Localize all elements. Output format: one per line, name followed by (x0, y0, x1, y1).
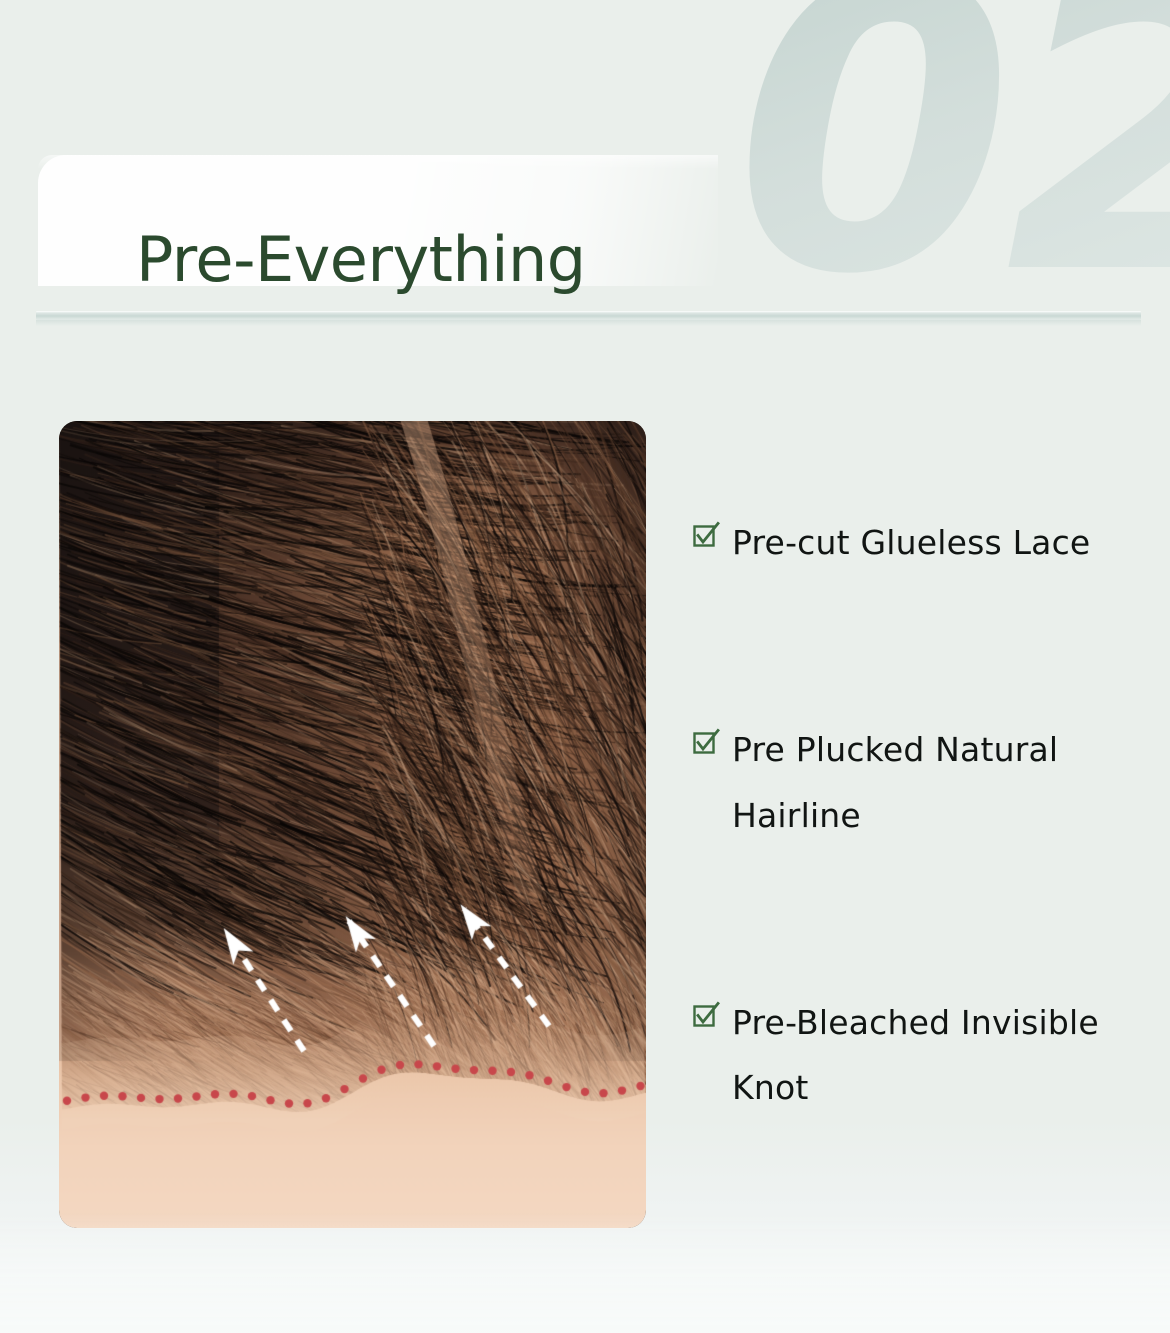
section-card: 02 Pre-Everything Pre-cut Glueless Lace (0, 0, 1170, 1333)
feature-list: Pre-cut Glueless Lace Pre Plucked Natura… (692, 510, 1152, 1121)
checkbox-checked-icon (692, 1001, 720, 1029)
hairline-photo-card (59, 421, 646, 1228)
list-item-label: Pre-Bleached Invisible Knot (732, 990, 1132, 1121)
header-divider-rule (36, 311, 1141, 320)
bottom-fade-overlay (0, 1213, 1170, 1333)
checkbox-checked-icon (692, 521, 720, 549)
header-divider-shadow (36, 320, 1141, 326)
list-item-label: Pre-cut Glueless Lace (732, 510, 1090, 575)
page-title: Pre-Everything (136, 223, 586, 297)
list-item: Pre Plucked Natural Hairline (692, 717, 1152, 848)
list-item-label: Pre Plucked Natural Hairline (732, 717, 1132, 848)
list-item: Pre-Bleached Invisible Knot (692, 990, 1152, 1121)
hairline-photo (59, 421, 646, 1228)
section-number-watermark: 02 (735, 0, 1170, 330)
list-item: Pre-cut Glueless Lace (692, 510, 1152, 575)
checkbox-checked-icon (692, 728, 720, 756)
